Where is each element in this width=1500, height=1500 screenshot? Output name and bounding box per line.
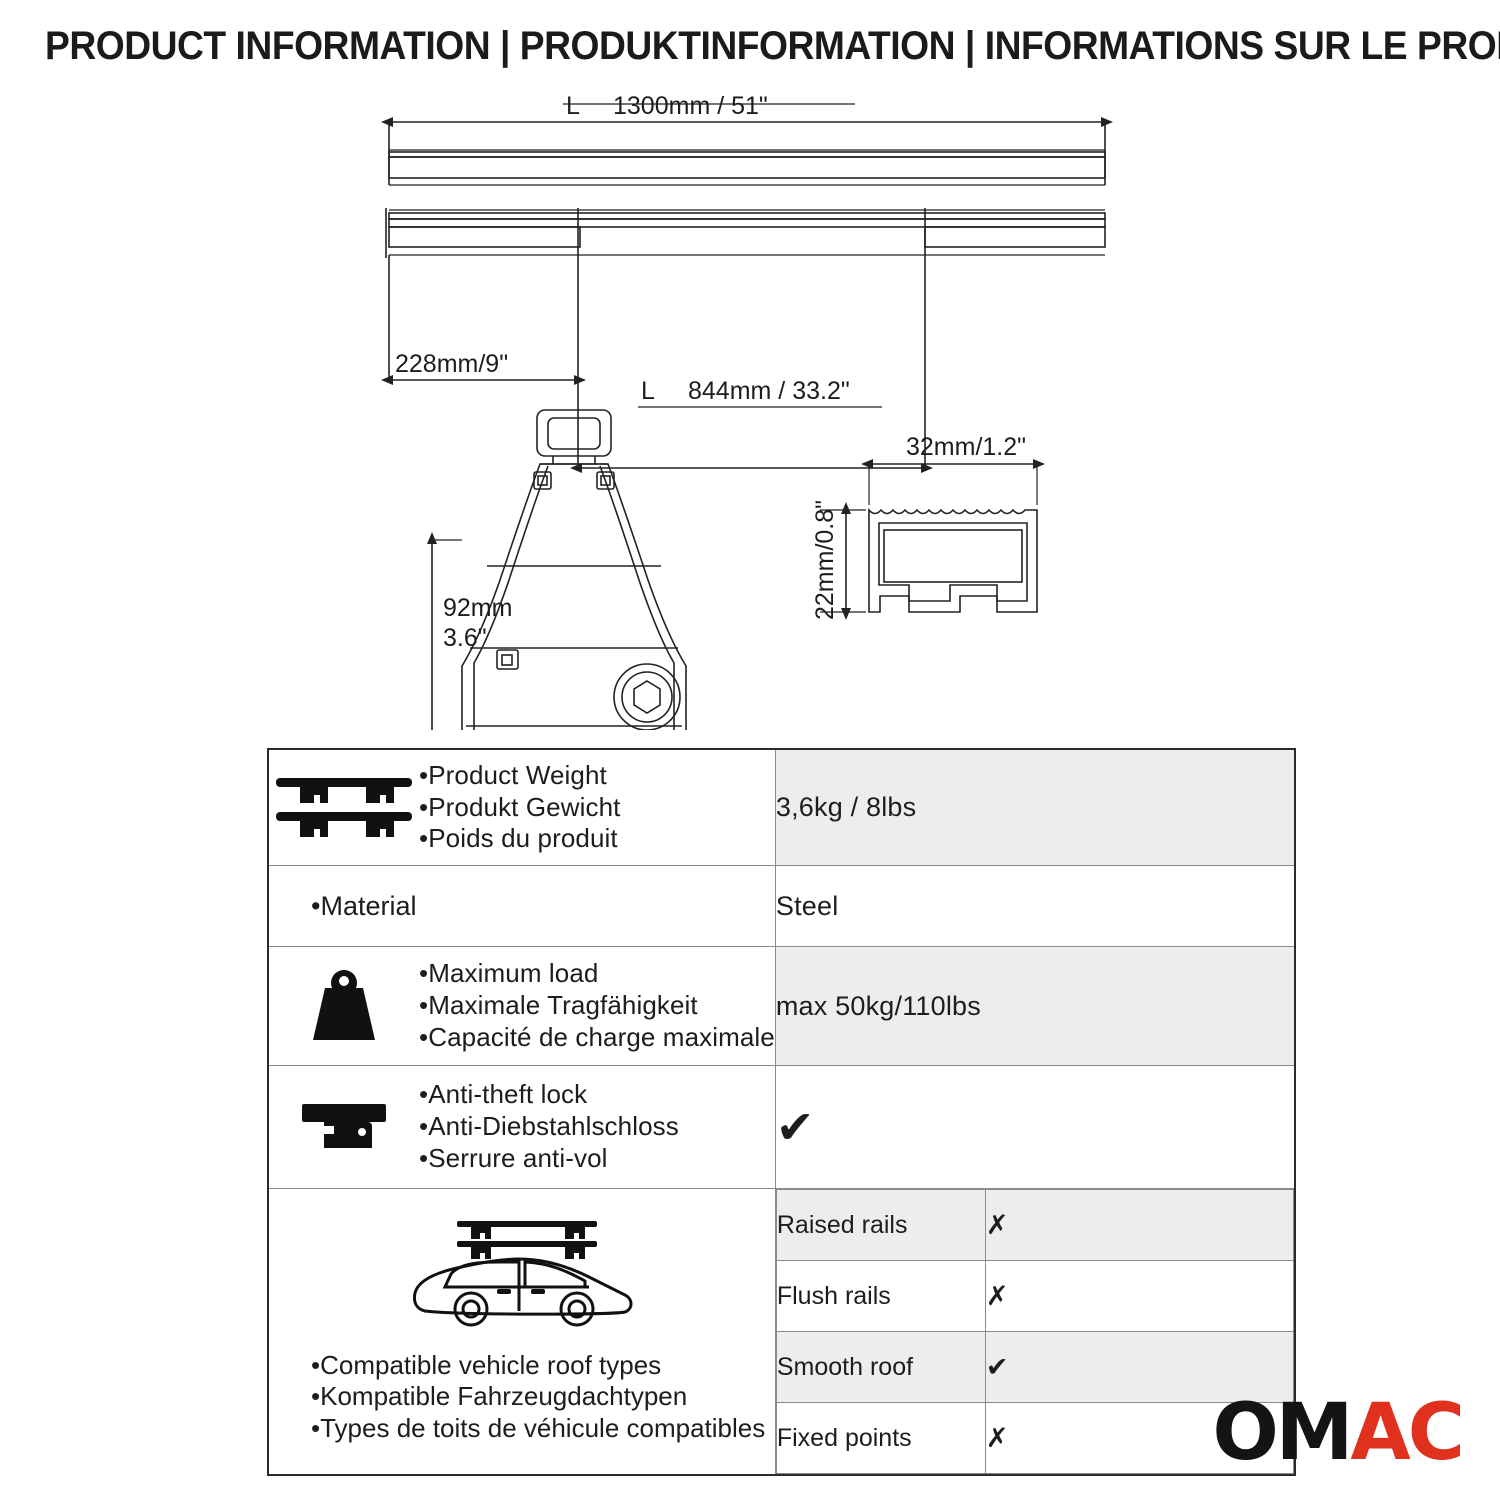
label-cell-compatibility: •Compatible vehicle roof types •Kompatib… bbox=[268, 1189, 775, 1476]
label-lines-anti-theft-lock: •Anti-theft lock •Anti-Diebstahlschloss … bbox=[419, 1079, 679, 1175]
bar-length-value: 1300mm / 51" bbox=[613, 92, 768, 120]
roof-rack-bars-icon bbox=[269, 774, 419, 842]
label-line: •Maximum load bbox=[419, 958, 775, 990]
bar-span-value: 844mm / 33.2" bbox=[688, 377, 850, 405]
value-product-weight: 3,6kg / 8lbs bbox=[775, 749, 1295, 866]
product-specification-table: •Product Weight •Produkt Gewicht •Poids … bbox=[267, 748, 1296, 1476]
logo-dark-text: OM bbox=[1212, 1394, 1350, 1472]
label-line: •Maximale Tragfähigkeit bbox=[419, 990, 775, 1022]
profile-height-value: 22mm/0.8" bbox=[811, 500, 839, 620]
lock-foot-icon bbox=[269, 1098, 419, 1156]
label-line: •Types de toits de véhicule compatibles bbox=[311, 1413, 775, 1444]
foot-height-line1: 92mm bbox=[443, 594, 512, 622]
label-cell-material: •Material bbox=[268, 866, 775, 947]
label-line: •Capacité de charge maximale bbox=[419, 1022, 775, 1054]
value-material: Steel bbox=[775, 866, 1295, 947]
label-lines-maximum-load: •Maximum load •Maximale Tragfähigkeit •C… bbox=[419, 958, 775, 1054]
bar-length-prefix: L bbox=[566, 92, 580, 120]
weight-icon bbox=[269, 966, 419, 1046]
cross-icon: ✗ bbox=[986, 1423, 1009, 1453]
car-with-roof-rack-icon bbox=[269, 1215, 775, 1340]
table-row-material: •Material Steel bbox=[268, 866, 1295, 947]
label-lines-compatibility: •Compatible vehicle roof types •Kompatib… bbox=[269, 1350, 775, 1444]
label-line: •Compatible vehicle roof types bbox=[311, 1350, 775, 1381]
page-title: PRODUCT INFORMATION | PRODUKTINFORMATION… bbox=[45, 24, 1366, 69]
label-line: •Anti-theft lock bbox=[419, 1079, 679, 1111]
label-cell-maximum-load: •Maximum load •Maximale Tragfähigkeit •C… bbox=[268, 947, 775, 1066]
roof-type-mark: ✗ bbox=[985, 1190, 1293, 1261]
roof-type-row-raised-rails: Raised rails ✗ bbox=[776, 1190, 1293, 1261]
label-line: •Serrure anti-vol bbox=[419, 1143, 679, 1175]
table-row-compatibility: •Compatible vehicle roof types •Kompatib… bbox=[268, 1189, 1295, 1476]
value-anti-theft-lock: ✔ bbox=[775, 1066, 1295, 1189]
table-row-product-weight: •Product Weight •Produkt Gewicht •Poids … bbox=[268, 749, 1295, 866]
roof-type-name: Raised rails bbox=[776, 1190, 985, 1261]
label-cell-anti-theft-lock: •Anti-theft lock •Anti-Diebstahlschloss … bbox=[268, 1066, 775, 1189]
foot-offset-value: 228mm/9" bbox=[395, 350, 508, 378]
foot-height-line2: 3.6" bbox=[443, 624, 487, 652]
roof-type-row-flush-rails: Flush rails ✗ bbox=[776, 1261, 1293, 1332]
omac-logo: OMAC bbox=[1212, 1394, 1462, 1472]
roof-type-name: Fixed points bbox=[776, 1403, 985, 1474]
label-line: •Product Weight bbox=[419, 760, 620, 792]
roof-type-mark: ✗ bbox=[985, 1261, 1293, 1332]
table-row-anti-theft-lock: •Anti-theft lock •Anti-Diebstahlschloss … bbox=[268, 1066, 1295, 1189]
check-icon: ✔ bbox=[776, 1101, 815, 1153]
bar-span-prefix: L bbox=[641, 377, 655, 405]
cross-icon: ✗ bbox=[986, 1281, 1009, 1311]
table-row-maximum-load: •Maximum load •Maximale Tragfähigkeit •C… bbox=[268, 947, 1295, 1066]
label-line: •Produkt Gewicht bbox=[419, 792, 620, 824]
label-cell-product-weight: •Product Weight •Produkt Gewicht •Poids … bbox=[268, 749, 775, 866]
label-line: •Anti-Diebstahlschloss bbox=[419, 1111, 679, 1143]
label-line: •Poids du produit bbox=[419, 823, 620, 855]
logo-accent-text: AC bbox=[1350, 1394, 1462, 1472]
roof-type-name: Flush rails bbox=[776, 1261, 985, 1332]
roof-type-name: Smooth roof bbox=[776, 1332, 985, 1403]
check-icon: ✔ bbox=[986, 1352, 1009, 1382]
label-lines-product-weight: •Product Weight •Produkt Gewicht •Poids … bbox=[419, 760, 620, 856]
value-maximum-load: max 50kg/110lbs bbox=[775, 947, 1295, 1066]
technical-drawing: L 1300mm / 51" 228mm/9" L 844mm / 33.2" bbox=[0, 80, 1500, 730]
label-line: •Kompatible Fahrzeugdachtypen bbox=[311, 1381, 775, 1412]
profile-width-value: 32mm/1.2" bbox=[906, 433, 1026, 461]
cross-icon: ✗ bbox=[986, 1210, 1009, 1240]
label-line: •Material bbox=[269, 891, 775, 922]
